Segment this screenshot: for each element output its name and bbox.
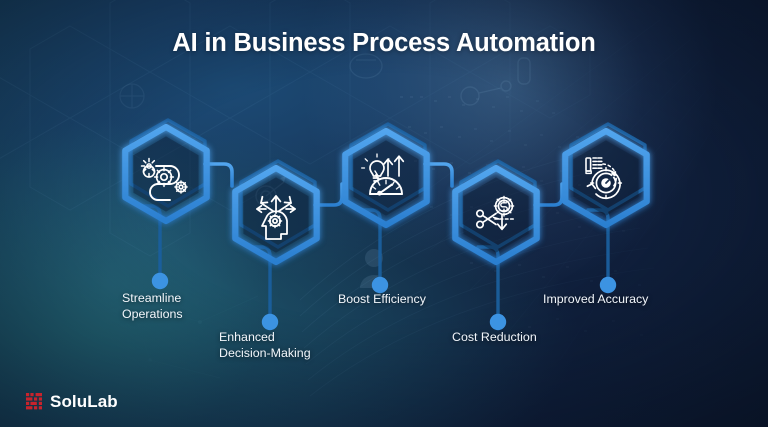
step-dot-1[interactable] [152, 273, 168, 289]
step-label-cost-reduction[interactable]: Cost Reduction [452, 329, 537, 345]
process-chain [0, 0, 768, 427]
step-dot-4[interactable] [490, 314, 506, 330]
brand-logo[interactable]: SoluLab [26, 392, 118, 412]
step-dot-2[interactable] [262, 314, 278, 330]
step-label-boost-efficiency[interactable]: Boost Efficiency [338, 291, 426, 307]
infographic-canvas: AI in Business Process Automation [0, 0, 768, 427]
step-label-improved-accuracy[interactable]: Improved Accuracy [543, 291, 648, 307]
brand-name: SoluLab [50, 392, 118, 412]
step-label-enhanced-decision-making[interactable]: Enhanced Decision-Making [219, 329, 311, 361]
solulab-mark-icon [26, 393, 43, 411]
step-label-streamline-operations[interactable]: Streamline Operations [122, 290, 183, 322]
